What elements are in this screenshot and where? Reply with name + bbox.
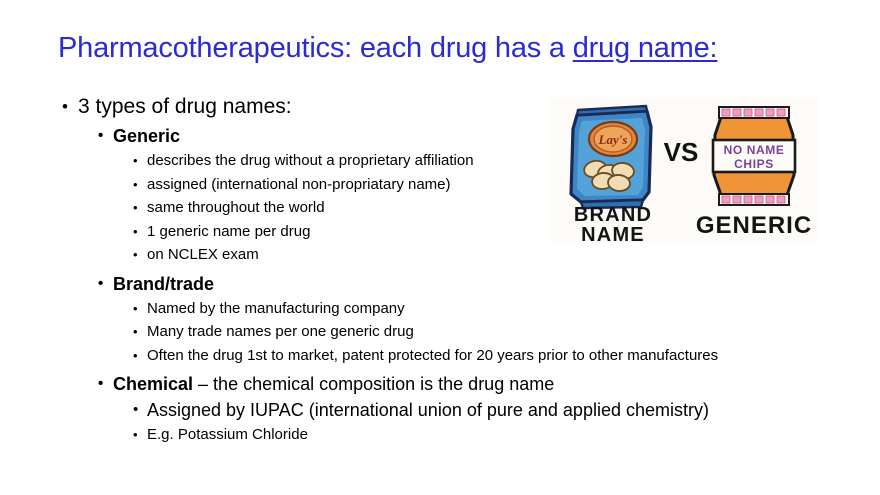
- brand-vs-generic-illustration: Lay's BRAND NAME VS NO NAME CHIPS: [551, 97, 817, 243]
- bullet-dot-icon: •: [133, 344, 138, 368]
- vs-label: VS: [664, 137, 699, 167]
- list-item: • Many trade names per one generic drug: [133, 320, 816, 344]
- group-heading-label: Brand/trade: [113, 271, 816, 297]
- list-item-label: Named by the manufacturing company: [147, 297, 816, 321]
- slide-title-prefix: Pharmacotherapeutics: each drug has a: [58, 32, 573, 64]
- list-item: • on NCLEX exam: [133, 243, 816, 267]
- bullet-dot-icon: •: [133, 196, 138, 220]
- svg-text:GENERIC: GENERIC: [696, 212, 812, 239]
- bullet-dot-icon: •: [98, 271, 103, 297]
- svg-text:Lay's: Lay's: [598, 132, 628, 147]
- bullet-dot-icon: •: [133, 320, 138, 344]
- bullet-dot-icon: •: [98, 371, 103, 397]
- list-item: • Named by the manufacturing company: [133, 297, 816, 321]
- outline-group-heading-brand-trade: • Brand/trade: [98, 271, 816, 297]
- outline-group-heading-chemical: • Chemical – the chemical composition is…: [98, 371, 816, 397]
- bullet-dot-icon: •: [133, 297, 138, 321]
- list-item-label: Often the drug 1st to market, patent pro…: [147, 344, 816, 368]
- svg-text:CHIPS: CHIPS: [734, 157, 774, 171]
- bullet-dot-icon: •: [62, 92, 68, 121]
- bullet-dot-icon: •: [133, 243, 138, 267]
- list-item: • Assigned by IUPAC (international union…: [133, 397, 816, 423]
- bullet-dot-icon: •: [133, 173, 138, 197]
- bullet-dot-icon: •: [133, 220, 138, 244]
- bullet-dot-icon: •: [133, 423, 138, 447]
- list-item: • E.g. Potassium Chloride: [133, 423, 816, 447]
- list-item: • Often the drug 1st to market, patent p…: [133, 344, 816, 368]
- list-item-label: Assigned by IUPAC (international union o…: [147, 397, 816, 423]
- slide-title: Pharmacotherapeutics: each drug has a dr…: [58, 30, 717, 66]
- group-heading-suffix: – the chemical composition is the drug n…: [193, 374, 554, 394]
- list-item-label: Many trade names per one generic drug: [147, 320, 816, 344]
- bullet-dot-icon: •: [98, 123, 103, 149]
- list-item-label: E.g. Potassium Chloride: [147, 423, 816, 447]
- brand-bag-graphic: Lay's BRAND NAME: [571, 106, 652, 243]
- svg-text:NAME: NAME: [581, 224, 645, 243]
- svg-text:BRAND: BRAND: [574, 204, 652, 226]
- bullet-dot-icon: •: [133, 397, 138, 423]
- group-heading-label: Chemical: [113, 374, 193, 394]
- bullet-dot-icon: •: [133, 149, 138, 173]
- group-heading-line: Chemical – the chemical composition is t…: [113, 371, 816, 397]
- slide-title-underlined: drug name:: [573, 32, 718, 64]
- list-item-label: on NCLEX exam: [147, 243, 816, 267]
- svg-text:NO NAME: NO NAME: [724, 143, 785, 157]
